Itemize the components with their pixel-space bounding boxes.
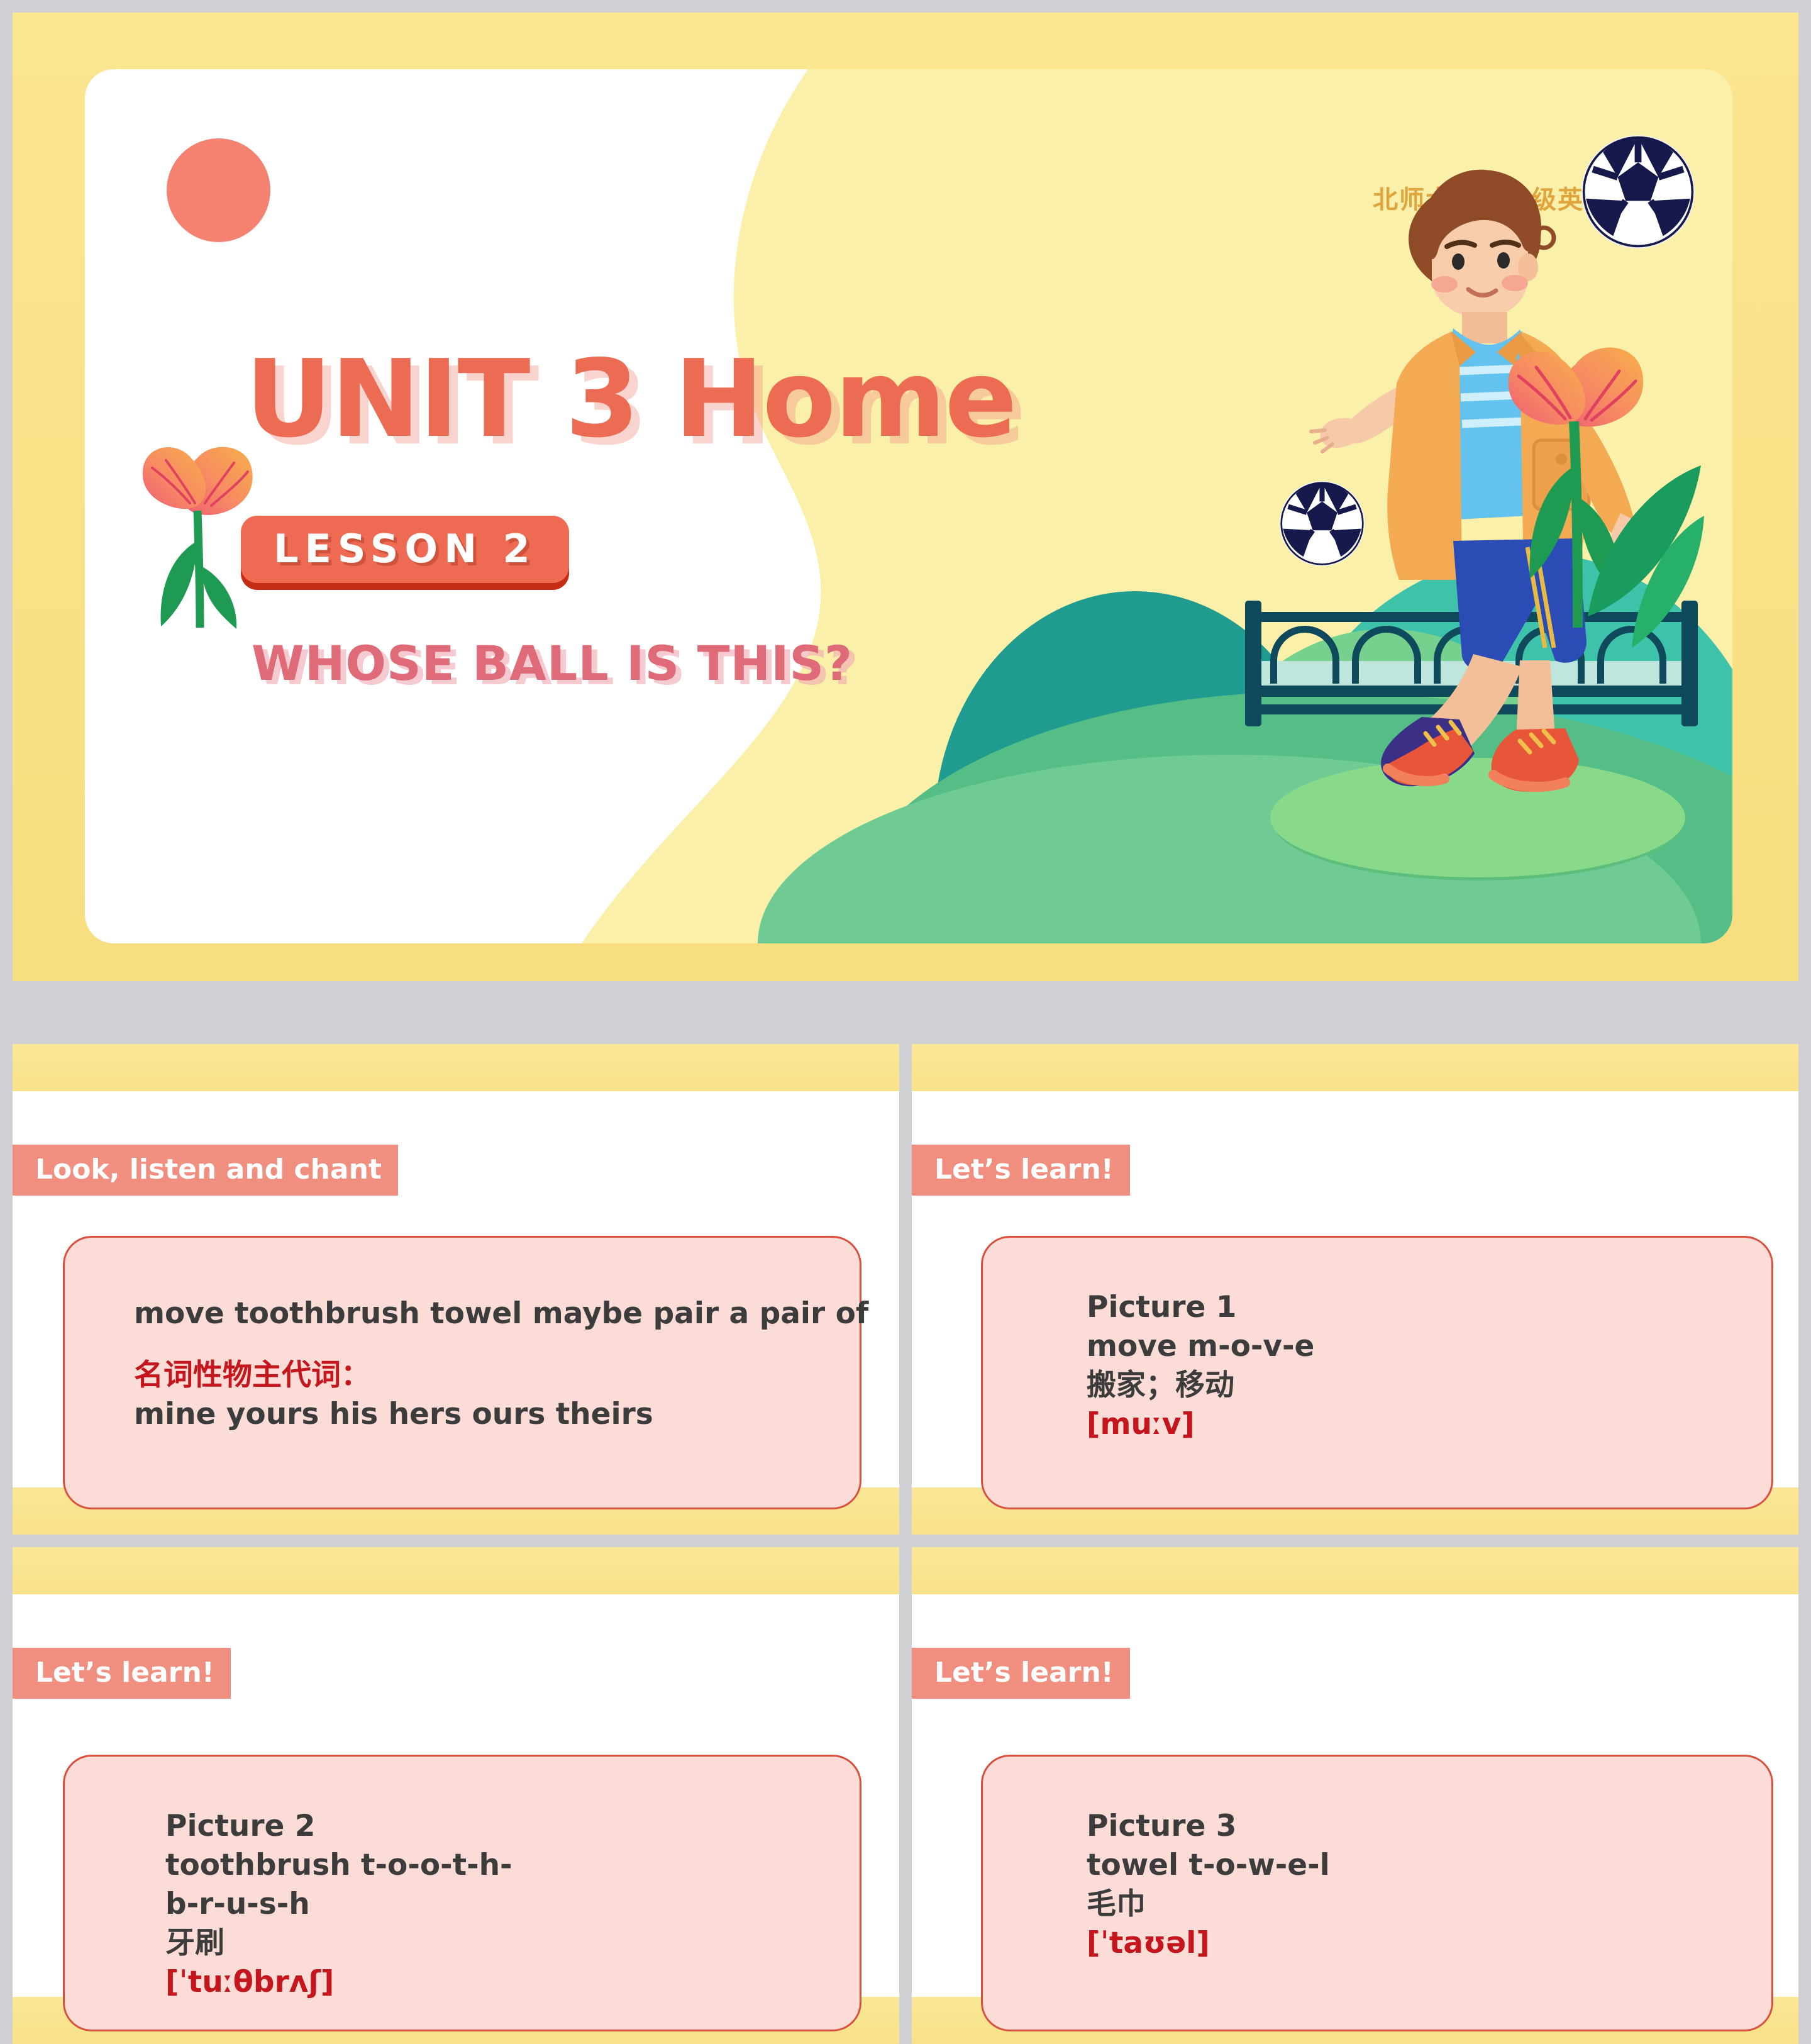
content-text: Picture 2 toothbrush t-o-o-t-h- b-r-u-s-… <box>165 1807 512 2002</box>
slide-panel-lets-learn-3[interactable]: Let’s learn! Picture 3 towel t-o-w-e-l 毛… <box>912 1547 1798 2044</box>
coral-dot-decoration <box>167 138 270 242</box>
content-line: 搬家；移动 <box>1087 1366 1314 1405</box>
content-line: 毛巾 <box>1087 1885 1330 1924</box>
page-title: UNIT 3 Home <box>245 346 1016 453</box>
panel-top-band <box>13 1547 899 1594</box>
content-text: move toothbrush towel maybe pair a pair … <box>134 1294 868 1434</box>
content-box: Picture 1 move m-o-v-e 搬家；移动 [muːv] <box>981 1236 1773 1509</box>
lesson-badge-wrapper: LESSON 2 <box>241 516 569 583</box>
slide-panel-look-listen-chant[interactable]: Look, listen and chant move toothbrush t… <box>13 1044 899 1535</box>
content-line: 名词性物主代词： <box>134 1356 868 1395</box>
content-text: Picture 1 move m-o-v-e 搬家；移动 [muːv] <box>1087 1288 1314 1444</box>
panel-tag: Let’s learn! <box>13 1648 231 1699</box>
illustration-scene <box>921 69 1732 943</box>
content-line: Picture 3 <box>1087 1807 1330 1846</box>
leaf-cluster-icon <box>1575 459 1707 667</box>
content-line: b-r-u-s-h <box>165 1885 512 1924</box>
content-text: Picture 3 towel t-o-w-e-l 毛巾 [ˈtaʊəl] <box>1087 1807 1330 1963</box>
panel-top-band <box>912 1547 1798 1594</box>
content-box: Picture 2 toothbrush t-o-o-t-h- b-r-u-s-… <box>63 1755 861 2031</box>
panel-tag: Let’s learn! <box>912 1648 1130 1699</box>
panel-tag: Let’s learn! <box>912 1145 1130 1196</box>
title-slide: 北师大版七年级英语上册 <box>13 13 1798 981</box>
content-line: toothbrush t-o-o-t-h- <box>165 1846 512 1885</box>
content-line: Picture 2 <box>165 1807 512 1846</box>
content-line: towel t-o-w-e-l <box>1087 1846 1330 1885</box>
content-line-ipa: [ˈtuːθbrʌʃ] <box>165 1963 512 2002</box>
slide-panel-lets-learn-2[interactable]: Let’s learn! Picture 2 toothbrush t-o-o-… <box>13 1547 899 2044</box>
content-box: move toothbrush towel maybe pair a pair … <box>63 1236 861 1509</box>
content-box: Picture 3 towel t-o-w-e-l 毛巾 [ˈtaʊəl] <box>981 1755 1773 2031</box>
content-line: move m-o-v-e <box>1087 1327 1314 1366</box>
flower-corner-icon <box>138 440 258 629</box>
panel-top-band <box>13 1044 899 1091</box>
soccer-ball-large-icon <box>1581 135 1695 248</box>
content-line-ipa: [muːv] <box>1087 1405 1314 1444</box>
page-subtitle: WHOSE BALL IS THIS? <box>252 635 853 691</box>
soccer-ball-small-icon <box>1280 481 1365 566</box>
content-spacer <box>134 1333 868 1356</box>
slide-panel-lets-learn-1[interactable]: Let’s learn! Picture 1 move m-o-v-e 搬家；移… <box>912 1044 1798 1535</box>
content-line: mine yours his hers ours theirs <box>134 1395 868 1434</box>
bench-post-left <box>1245 601 1261 726</box>
lesson-badge: LESSON 2 <box>241 516 569 583</box>
title-card: 北师大版七年级英语上册 <box>85 69 1732 943</box>
content-line-ipa: [ˈtaʊəl] <box>1087 1924 1330 1963</box>
content-line: move toothbrush towel maybe pair a pair … <box>134 1294 868 1333</box>
content-line: 牙刷 <box>165 1924 512 1963</box>
content-line: Picture 1 <box>1087 1288 1314 1327</box>
panel-tag: Look, listen and chant <box>13 1145 398 1196</box>
panel-top-band <box>912 1044 1798 1091</box>
